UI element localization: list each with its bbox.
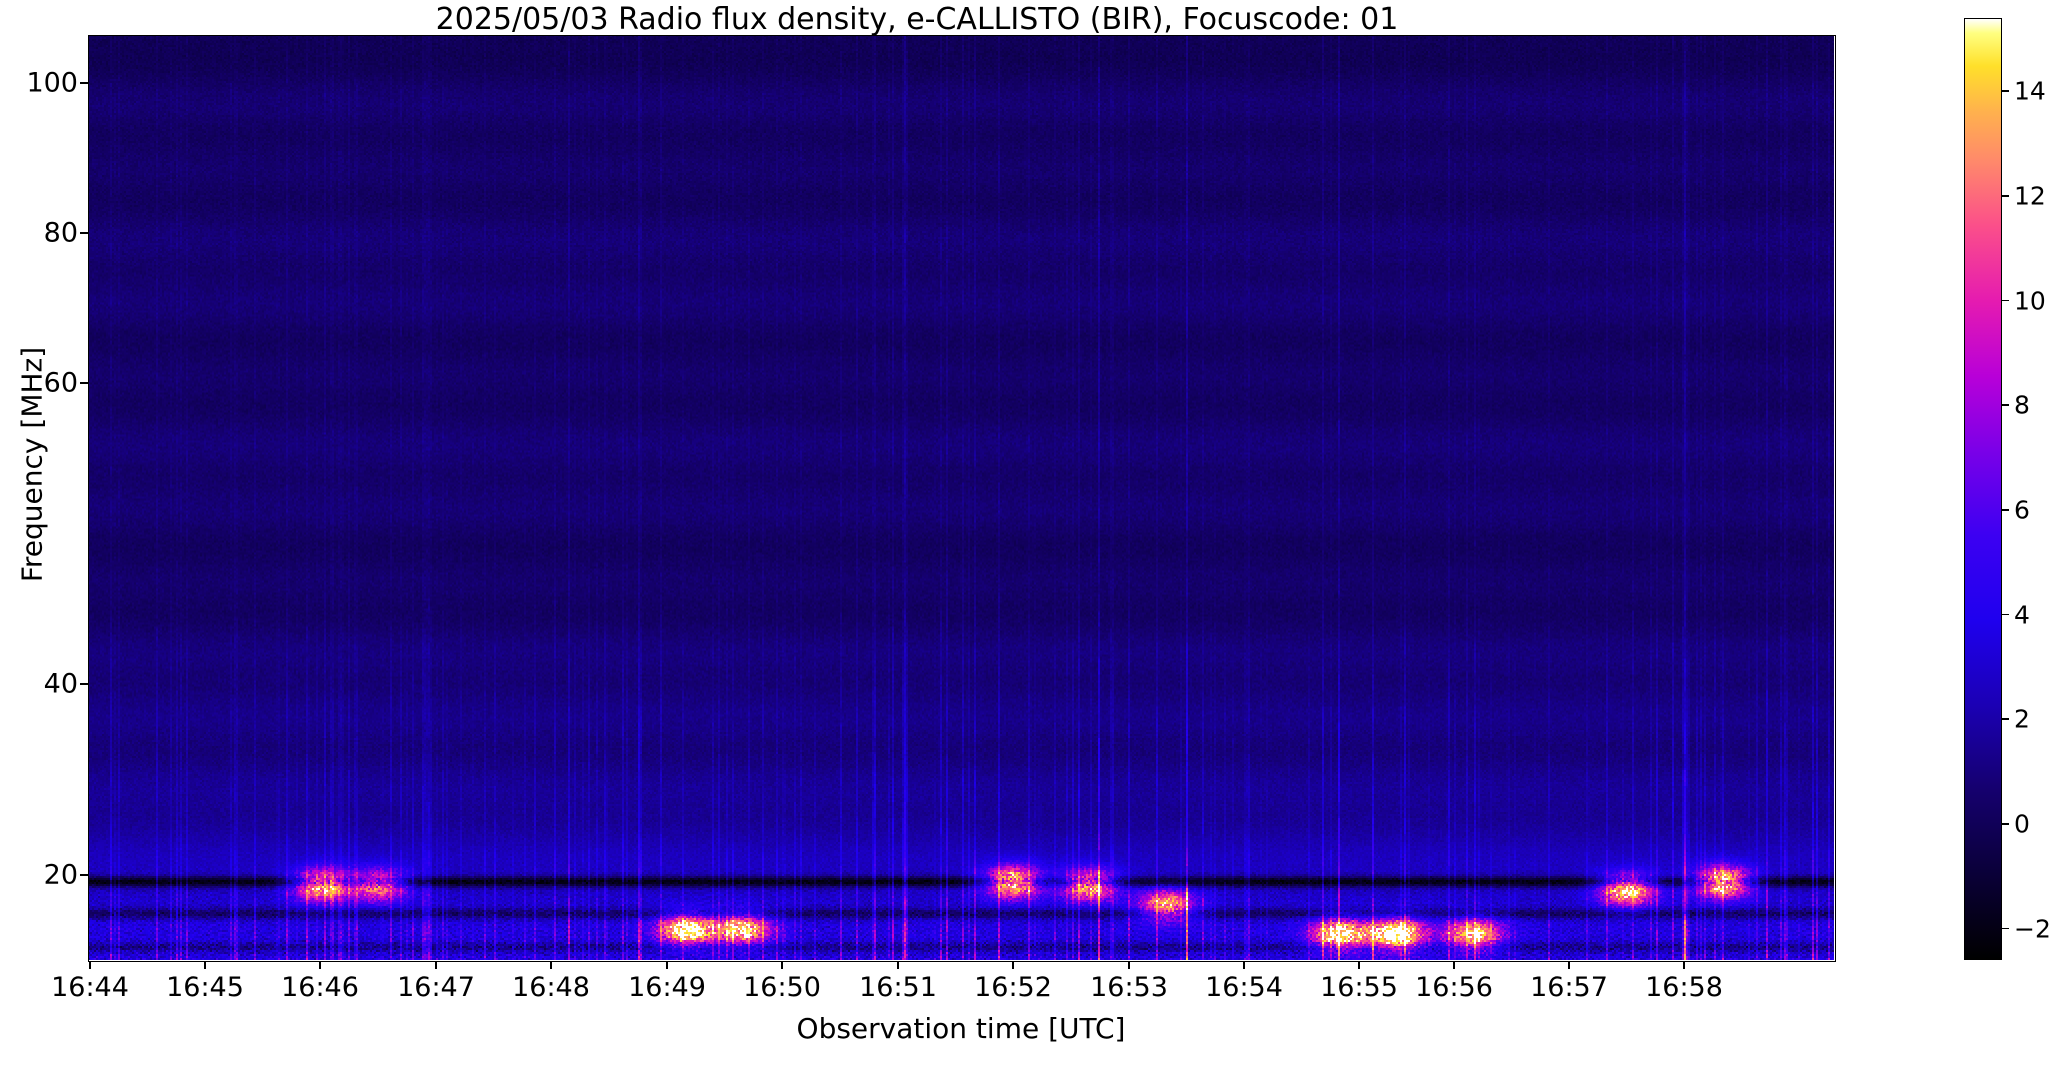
x-tick-mark xyxy=(1568,961,1570,969)
chart-title: 2025/05/03 Radio flux density, e-CALLIST… xyxy=(0,2,1834,37)
x-tick-mark xyxy=(897,961,899,969)
colorbar-tick-mark xyxy=(2002,718,2009,720)
spectrogram-image xyxy=(88,35,1834,960)
y-tick-label: 20 xyxy=(8,860,78,891)
y-tick-label: 100 xyxy=(8,68,78,99)
y-tick-mark xyxy=(80,683,88,685)
colorbar-tick-label: 4 xyxy=(2014,600,2030,629)
x-tick-mark xyxy=(1683,961,1685,969)
colorbar-tick-mark xyxy=(2002,195,2009,197)
colorbar-tick-labels: −202468101214 xyxy=(2014,0,2066,1067)
x-tick-mark xyxy=(1453,961,1455,969)
y-tick-mark xyxy=(80,82,88,84)
colorbar-tick-label: −2 xyxy=(2014,914,2051,943)
spectrogram-plot-area xyxy=(88,35,1834,960)
x-tick-mark xyxy=(435,961,437,969)
colorbar-tick-label: 0 xyxy=(2014,809,2030,838)
x-tick-mark xyxy=(1358,961,1360,969)
x-tick-mark xyxy=(781,961,783,969)
colorbar-tick-label: 10 xyxy=(2014,286,2046,315)
colorbar xyxy=(1964,18,2002,960)
x-tick-mark xyxy=(204,961,206,969)
x-tick-mark xyxy=(1012,961,1014,969)
colorbar-tick-mark xyxy=(2002,509,2009,511)
x-tick-label: 16:58 xyxy=(1604,972,1764,1003)
x-tick-mark xyxy=(1128,961,1130,969)
colorbar-tick-label: 6 xyxy=(2014,495,2030,524)
y-tick-mark xyxy=(80,874,88,876)
colorbar-tick-mark xyxy=(2002,404,2009,406)
colorbar-gradient xyxy=(1964,18,2002,960)
spectrogram-figure: 2025/05/03 Radio flux density, e-CALLIST… xyxy=(0,0,2066,1067)
y-tick-mark xyxy=(80,232,88,234)
colorbar-tick-mark xyxy=(2002,300,2009,302)
colorbar-tick-mark xyxy=(2002,823,2009,825)
x-axis-label: Observation time [UTC] xyxy=(88,1012,1834,1045)
y-tick-mark xyxy=(80,382,88,384)
colorbar-tick-mark xyxy=(2002,90,2009,92)
x-tick-mark xyxy=(666,961,668,969)
x-tick-mark xyxy=(550,961,552,969)
colorbar-tick-mark xyxy=(2002,928,2009,930)
colorbar-tick-label: 12 xyxy=(2014,181,2046,210)
colorbar-tick-label: 14 xyxy=(2014,77,2046,106)
x-tick-mark xyxy=(89,961,91,969)
colorbar-tick-label: 2 xyxy=(2014,705,2030,734)
x-tick-mark xyxy=(1243,961,1245,969)
colorbar-tick-label: 8 xyxy=(2014,391,2030,420)
colorbar-tick-mark xyxy=(2002,614,2009,616)
x-tick-mark xyxy=(319,961,321,969)
y-axis-label: Frequency [MHz] xyxy=(16,205,49,725)
